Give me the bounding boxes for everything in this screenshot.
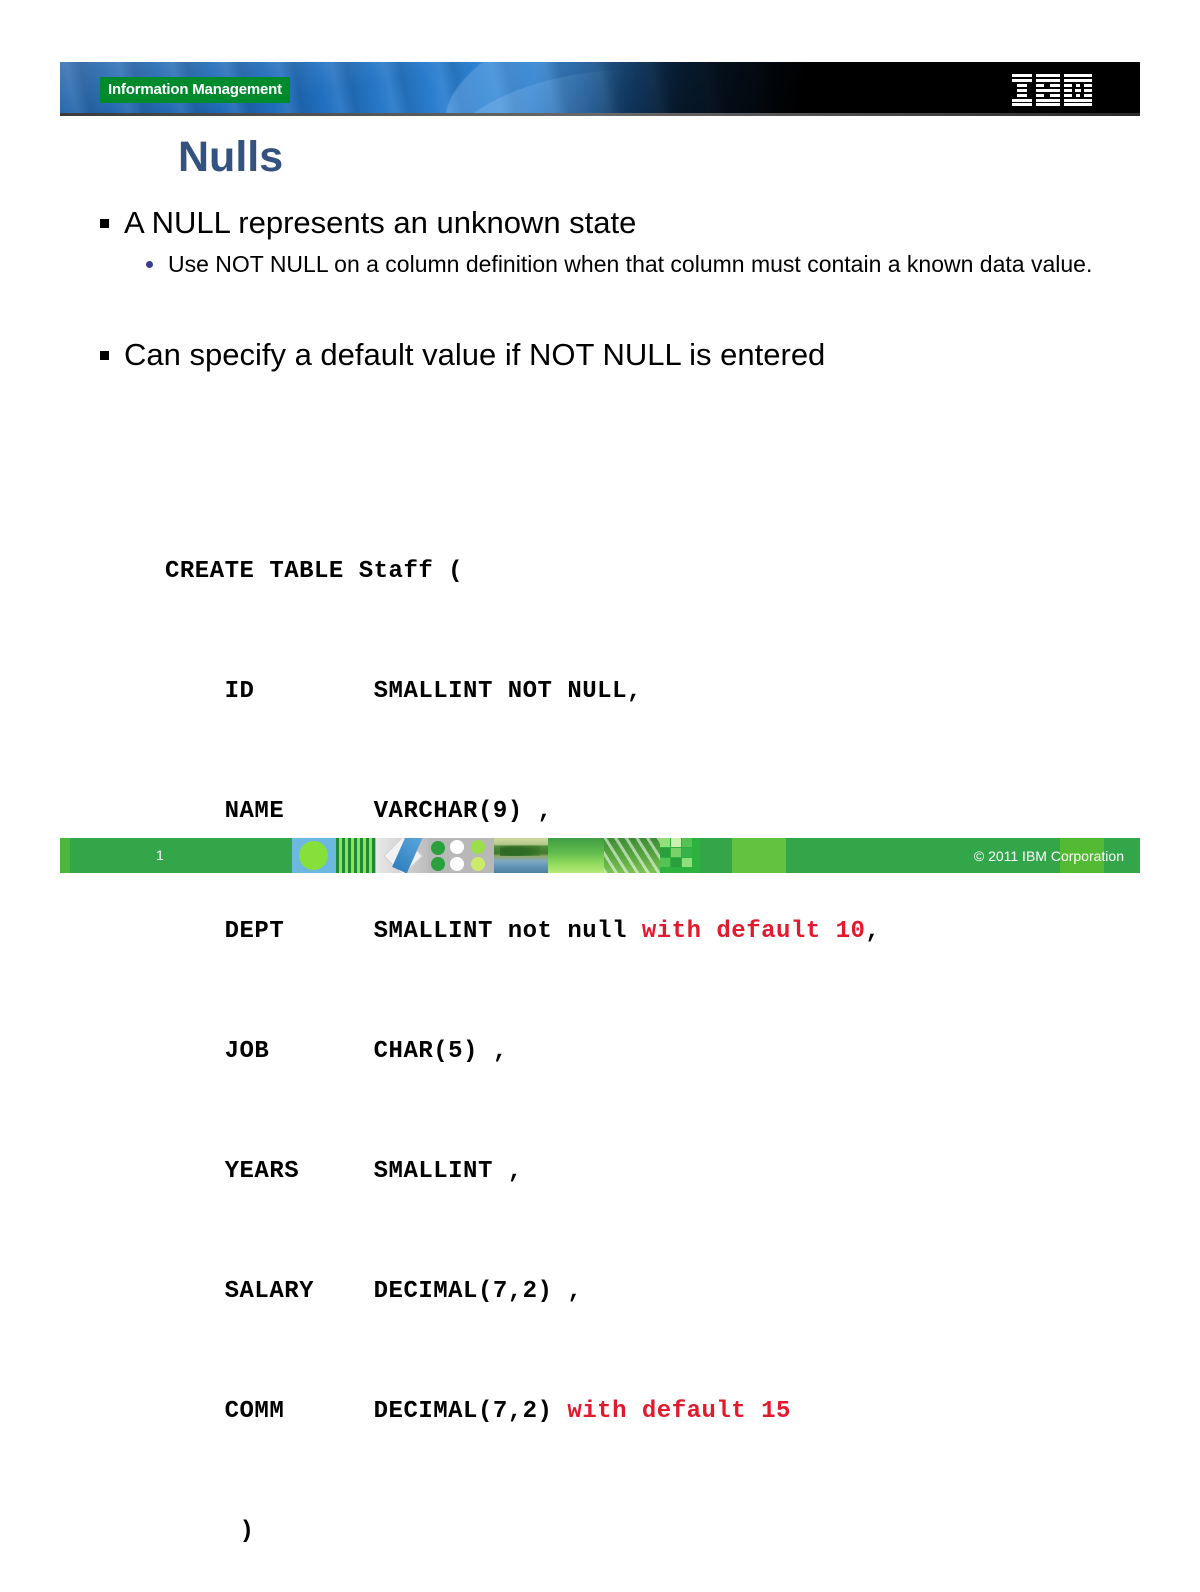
footer-bar: 1 © 2011 IBM Corporation — [60, 838, 1140, 873]
sub-bullet-item-1-label: Use NOT NULL on a column definition when… — [168, 251, 1092, 277]
square-bullet-icon — [100, 351, 109, 360]
bullet-spacer — [96, 279, 1116, 337]
footer-tile-dots-icon — [428, 838, 494, 873]
code-text-black: YEARS SMALLINT , — [165, 1158, 523, 1185]
footer-tile-pixels-icon — [660, 838, 700, 873]
footer-tile-diamond-icon — [376, 838, 428, 873]
code-text-black: SALARY DECIMAL(7,2) , — [165, 1278, 582, 1305]
code-text-black: DEPT SMALLINT not null — [165, 918, 642, 945]
dot-bullet-icon — [146, 261, 153, 268]
code-line: YEARS SMALLINT , — [165, 1152, 880, 1192]
code-line: JOB CHAR(5) , — [165, 1032, 880, 1072]
bullet-item-2-label: Can specify a default value if NOT NULL … — [124, 337, 825, 372]
square-bullet-icon — [100, 219, 109, 228]
page-title: Nulls — [178, 133, 283, 182]
footer-tile-landscape-icon — [494, 838, 548, 873]
slide-body: A NULL represents an unknown state Use N… — [96, 205, 1116, 380]
footer-left-edge-accent — [60, 838, 70, 873]
code-text-black: CREATE TABLE Staff ( — [165, 558, 463, 585]
code-line: ) — [165, 1512, 880, 1552]
footer-accent-band-1 — [732, 838, 786, 873]
code-line: CREATE TABLE Staff ( — [165, 552, 880, 592]
slide-number: 1 — [156, 847, 164, 863]
information-management-badge: Information Management — [100, 77, 290, 103]
code-line: NAME VARCHAR(9) , — [165, 792, 880, 832]
code-text-red: with default 10 — [642, 918, 866, 945]
header-banner: Information Management — [60, 62, 1140, 113]
code-text-black: ID SMALLINT NOT NULL, — [165, 678, 642, 705]
code-text-black-tail: , — [865, 918, 880, 945]
footer-tile-gradient-icon — [548, 838, 604, 873]
code-line: SALARY DECIMAL(7,2) , — [165, 1272, 880, 1312]
footer-tile-leaves-icon — [604, 838, 660, 873]
code-line: COMM DECIMAL(7,2) with default 15 — [165, 1392, 880, 1432]
bullet-item-1: A NULL represents an unknown state — [96, 205, 1116, 242]
sql-code-block: CREATE TABLE Staff ( ID SMALLINT NOT NUL… — [165, 472, 880, 1592]
footer-tile-stripes-icon — [336, 838, 376, 873]
code-text-black: NAME VARCHAR(9) , — [165, 798, 552, 825]
code-text-black: COMM DECIMAL(7,2) — [165, 1398, 567, 1425]
code-text-red: with default 15 — [567, 1398, 791, 1425]
code-text-black: JOB CHAR(5) , — [165, 1038, 508, 1065]
footer-tile-circle-icon — [292, 838, 336, 873]
footer-image-strip — [292, 838, 700, 873]
sub-bullet-item-1: Use NOT NULL on a column definition when… — [138, 250, 1116, 279]
code-line: ID SMALLINT NOT NULL, — [165, 672, 880, 712]
bullet-item-2: Can specify a default value if NOT NULL … — [96, 337, 1116, 374]
ibm-logo — [1012, 74, 1108, 106]
bullet-item-1-label: A NULL represents an unknown state — [124, 205, 636, 240]
header-underline — [60, 113, 1140, 116]
code-text-black: ) — [165, 1518, 254, 1545]
copyright-notice: © 2011 IBM Corporation — [974, 848, 1124, 864]
code-line: DEPT SMALLINT not null with default 10, — [165, 912, 880, 952]
